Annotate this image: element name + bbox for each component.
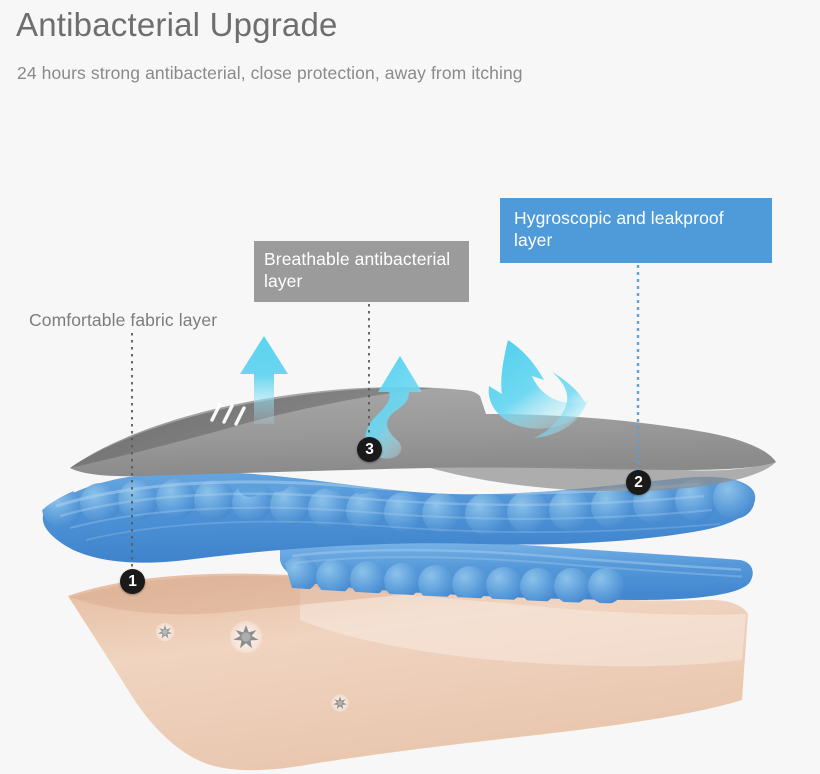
germ-icon — [156, 623, 175, 642]
marker-3[interactable]: 3 — [357, 437, 382, 462]
germ-icon — [230, 621, 262, 653]
marker-2[interactable]: 2 — [626, 470, 651, 495]
infographic-page: Antibacterial Upgrade 24 hours strong an… — [0, 0, 820, 774]
germ-icon — [331, 694, 348, 711]
marker-1[interactable]: 1 — [120, 569, 145, 594]
diagram-illustration — [0, 0, 820, 774]
callout-hygroscopic-leakproof-layer[interactable]: Hygroscopic and leakproof layer — [500, 198, 772, 263]
skin-base-layer — [68, 574, 748, 771]
callout-breathable-antibacterial-layer[interactable]: Breathable antibacterial layer — [254, 241, 469, 302]
callout-comfortable-fabric-layer[interactable]: Comfortable fabric layer — [29, 309, 255, 331]
layer-diagram: Comfortable fabric layer Breathable anti… — [0, 0, 820, 774]
